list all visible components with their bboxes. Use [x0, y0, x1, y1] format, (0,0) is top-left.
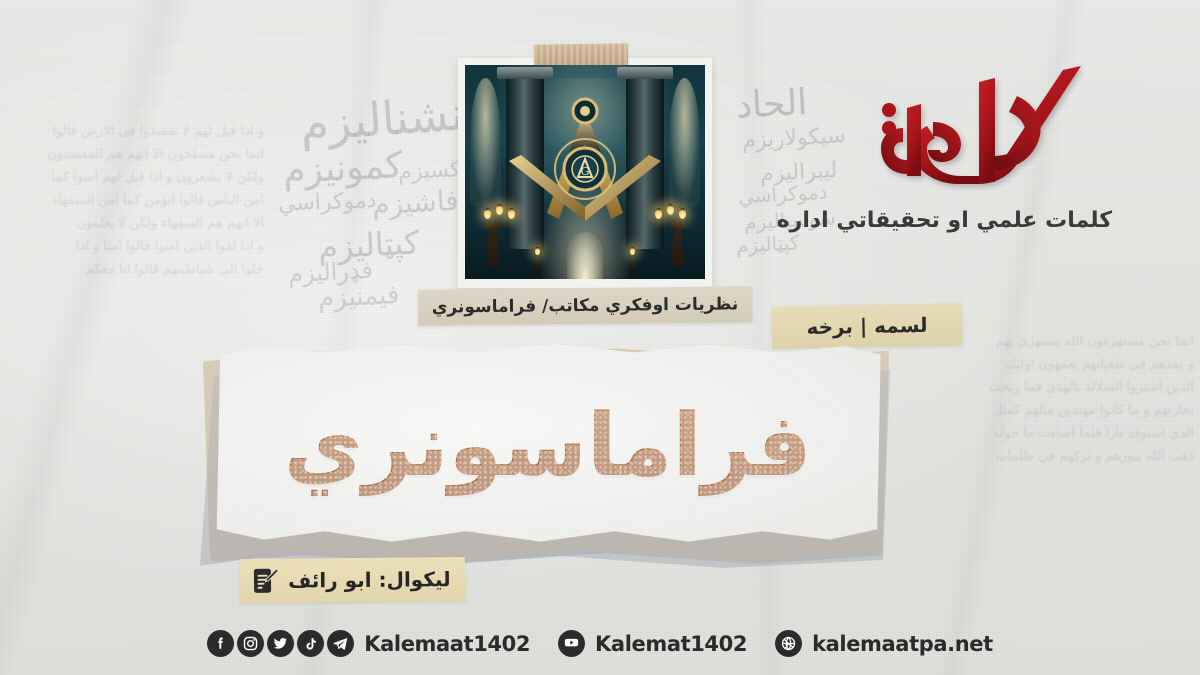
photo-caption-strip: نظریات اوفکري مکاتب/ فراماسونري [418, 286, 752, 325]
footer-social-bar: Kalemaat1402Kalemat1402kalemaatpa.net [0, 630, 1200, 657]
flame-icon [679, 208, 686, 219]
masonic-lodge-illustration: G [465, 65, 705, 279]
ghost-script-left: و اذا قيل لهم لا تفسدوا في الارض قالواان… [14, 120, 264, 281]
author-label: ليکوال: ابو رائف [288, 567, 451, 592]
ghost-script-line: الذي استوقد نارا فلما اضاءت ما حوله [924, 422, 1194, 445]
ghost-script-line: الذين اشتروا الضلالة بالهدى فما ربحت [924, 376, 1194, 399]
globe-icon[interactable] [775, 630, 802, 657]
watermark-word: کپټالیزم [317, 223, 420, 266]
flame-icon [667, 204, 674, 215]
watermark-word: فډرالیزم [287, 256, 373, 288]
masonic-photo-card: G [458, 58, 712, 288]
ghost-script-line: و يمدهم في طغيانهم يعمهون اولئك [924, 353, 1194, 376]
watermark-word: دموکراسي [737, 180, 828, 209]
watermark-word: کپټالیزم [735, 230, 799, 257]
footer-social-group: Kalemat1402 [558, 630, 747, 657]
watermark-word: فاشیزم [371, 184, 459, 221]
flame-icon [630, 247, 635, 255]
watermark-word: کمونیزم [282, 145, 404, 192]
facebook-icon[interactable] [207, 630, 234, 657]
watermark-word: نشنالیزم [298, 86, 465, 151]
flame-icon [535, 247, 540, 255]
glowing-doorway [567, 232, 603, 279]
footer-social-group: Kalemaat1402 [207, 630, 530, 657]
watermark-word: سیکولاریزم [741, 123, 846, 153]
twitter-icon[interactable] [267, 630, 294, 657]
ghost-script-line: و اذا لقوا الذين امنوا قالوا امنا و اذا [14, 235, 264, 258]
flame-icon [655, 208, 662, 219]
main-title: فراماسونري [196, 396, 900, 496]
part-number-label: لسمه | برخه [806, 313, 928, 339]
footer-icon-row [558, 630, 585, 657]
ghost-script-line: خلوا الى شياطينهم قالوا انا معكم [14, 258, 264, 281]
ghost-script-line: الا انهم هم السفهاء ولكن لا يعلمون [14, 212, 264, 235]
footer-handle[interactable]: kalemaatpa.net [812, 632, 993, 656]
tiktok-icon[interactable] [297, 630, 324, 657]
author-chip: ليکوال: ابو رائف [240, 557, 465, 603]
flame-icon [508, 208, 515, 219]
watermark-word: الحاد [735, 82, 808, 127]
square-and-compasses-icon: G [495, 95, 675, 235]
watermark-word: لیبرالیزم [759, 158, 838, 187]
torn-paper-banner: فراماسونري [196, 338, 900, 576]
brand-tagline: كلمات علمي او تحقيقاتي اداره [852, 208, 1112, 233]
ghost-script-line: تجارتهم و ما كانوا مهتدين مثلهم كمثل [924, 399, 1194, 422]
ghost-script-line: ذهب الله بنورهم و تركهم في ظلمات [924, 445, 1194, 468]
photo-caption-text: نظریات اوفکري مکاتب/ فراماسونري [432, 294, 739, 317]
footer-icon-row [207, 630, 354, 657]
instagram-icon[interactable] [237, 630, 264, 657]
ghost-script-line: امن الناس قالوا انؤمن كما امن السفهاء [14, 189, 264, 212]
watermark-word: فیمنیزم [317, 280, 400, 314]
document-pen-icon [250, 566, 280, 596]
youtube-icon[interactable] [558, 630, 585, 657]
ghost-script-line: ولكن لا يشعرون و اذا قيل لهم امنوا كما [14, 166, 264, 189]
ghost-script-line: و اذا قيل لهم لا تفسدوا في الارض قالوا [14, 120, 264, 143]
svg-text:G: G [581, 165, 590, 178]
main-title-text: فراماسونري [284, 396, 812, 496]
footer-icon-row [775, 630, 802, 657]
kalemaat-logo-icon [852, 52, 1112, 202]
telegram-icon[interactable] [327, 630, 354, 657]
flame-icon [496, 204, 503, 215]
footer-social-group: kalemaatpa.net [775, 630, 993, 657]
flame-icon [484, 208, 491, 219]
watermark-word: دموکراسي [278, 188, 377, 216]
brand-block: كلمات علمي او تحقيقاتي اداره [852, 52, 1112, 233]
ghost-script-right: انما نحن مستهزءون الله يستهزئ بهمو يمدهم… [924, 330, 1194, 468]
poster-canvas: و اذا قيل لهم لا تفسدوا في الارض قالواان… [0, 0, 1200, 675]
ghost-script-line: انما نحن مستهزءون الله يستهزئ بهم [924, 330, 1194, 353]
footer-handle[interactable]: Kalemat1402 [595, 632, 747, 656]
ghost-script-line: انما نحن مصلحون الا انهم هم المفسدون [14, 143, 264, 166]
footer-handle[interactable]: Kalemaat1402 [364, 632, 530, 656]
